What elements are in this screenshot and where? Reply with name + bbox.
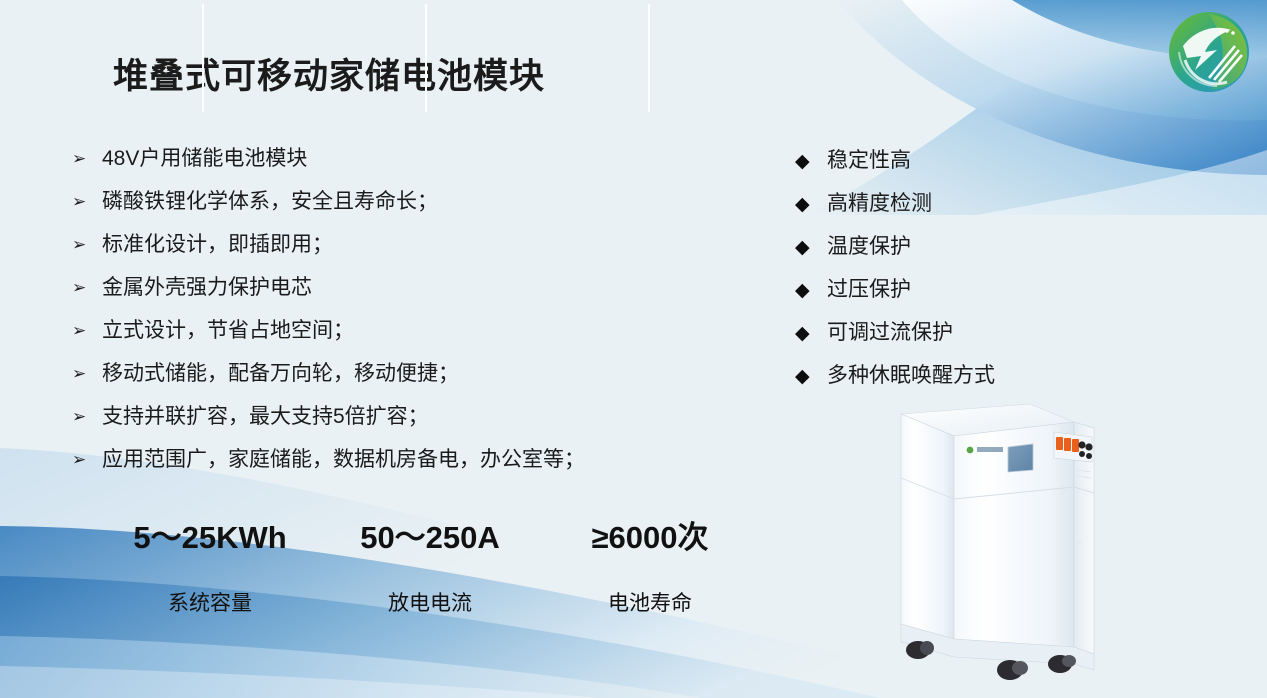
list-item: ➢ 磷酸铁锂化学体系，安全且寿命长； <box>72 191 692 234</box>
list-item-label: 金属外壳强力保护电芯 <box>102 277 312 298</box>
diamond-bullet-icon: ◆ <box>795 238 827 257</box>
list-item-label: 多种休眠唤醒方式 <box>827 365 995 386</box>
spec-cell-capacity: 5～25KWh 系统容量 <box>100 505 320 620</box>
product-image-battery-cabinet <box>878 392 1118 692</box>
power-terminals <box>1054 432 1093 462</box>
slide-canvas: 堆叠式可移动家储电池模块 ➢ 48V户用储能电池模块 ➢ 磷酸铁锂化学体系，安全… <box>0 0 1267 698</box>
spec-caption: 系统容量 <box>168 593 252 614</box>
list-item: ➢ 金属外壳强力保护电芯 <box>72 277 692 320</box>
spec-caption: 电池寿命 <box>608 593 692 614</box>
list-item-label: 立式设计，节省占地空间； <box>102 320 354 341</box>
diamond-bullet-icon: ◆ <box>795 324 827 343</box>
list-item: ➢ 支持并联扩容，最大支持5倍扩容； <box>72 406 692 449</box>
list-item: ◆ 稳定性高 <box>795 150 1085 193</box>
list-item: ➢ 应用范围广，家庭储能，数据机房备电，办公室等； <box>72 449 692 492</box>
spec-cell-current: 50～250A 放电电流 <box>320 505 540 620</box>
list-item: ➢ 立式设计，节省占地空间； <box>72 320 692 363</box>
list-item: ➢ 移动式储能，配备万向轮，移动便捷； <box>72 363 692 406</box>
list-item: ◆ 温度保护 <box>795 236 1085 279</box>
arrow-bullet-icon: ➢ <box>72 408 102 425</box>
list-item-label: 温度保护 <box>827 236 911 257</box>
features-left-list: ➢ 48V户用储能电池模块 ➢ 磷酸铁锂化学体系，安全且寿命长； ➢ 标准化设计… <box>72 148 692 492</box>
diamond-bullet-icon: ◆ <box>795 152 827 171</box>
spec-divider <box>648 4 650 112</box>
list-item: ➢ 标准化设计，即插即用； <box>72 234 692 277</box>
list-item-label: 过压保护 <box>827 279 911 300</box>
spec-divider <box>202 4 204 112</box>
arrow-bullet-icon: ➢ <box>72 279 102 296</box>
list-item-label: 磷酸铁锂化学体系，安全且寿命长； <box>102 191 438 212</box>
arrow-bullet-icon: ➢ <box>72 451 102 468</box>
diamond-bullet-icon: ◆ <box>795 195 827 214</box>
arrow-bullet-icon: ➢ <box>72 236 102 253</box>
diamond-bullet-icon: ◆ <box>795 367 827 386</box>
spec-value: 5～25KWh <box>133 522 286 553</box>
arrow-bullet-icon: ➢ <box>72 322 102 339</box>
list-item-label: 标准化设计，即插即用； <box>102 234 333 255</box>
spec-caption: 放电电流 <box>388 593 472 614</box>
spec-divider <box>425 4 427 112</box>
arrow-bullet-icon: ➢ <box>72 150 102 167</box>
spec-value: ≥6000次 <box>592 522 709 553</box>
arrow-bullet-icon: ➢ <box>72 193 102 210</box>
diamond-bullet-icon: ◆ <box>795 281 827 300</box>
list-item: ◆ 过压保护 <box>795 279 1085 322</box>
list-item: ◆ 高精度检测 <box>795 193 1085 236</box>
spec-cell-cycle-life: ≥6000次 电池寿命 <box>540 505 760 620</box>
list-item-label: 移动式储能，配备万向轮，移动便捷； <box>102 363 459 384</box>
spec-value: 50～250A <box>360 522 500 553</box>
spec-highlights: 5～25KWh 系统容量 50～250A 放电电流 ≥6000次 电池寿命 <box>100 505 760 620</box>
list-item-label: 支持并联扩容，最大支持5倍扩容； <box>102 406 429 427</box>
list-item-label: 应用范围广，家庭储能，数据机房备电，办公室等； <box>102 449 585 470</box>
list-item: ◆ 可调过流保护 <box>795 322 1085 365</box>
company-logo <box>1165 8 1253 96</box>
page-title: 堆叠式可移动家储电池模块 <box>113 56 545 98</box>
list-item-label: 稳定性高 <box>827 150 911 171</box>
list-item-label: 48V户用储能电池模块 <box>102 148 307 169</box>
features-right-list: ◆ 稳定性高 ◆ 高精度检测 ◆ 温度保护 ◆ 过压保护 ◆ 可调过流保护 ◆ … <box>795 150 1085 408</box>
list-item-label: 高精度检测 <box>827 193 932 214</box>
lcd-display <box>1008 444 1033 472</box>
list-item: ➢ 48V户用储能电池模块 <box>72 148 692 191</box>
list-item-label: 可调过流保护 <box>827 322 953 343</box>
arrow-bullet-icon: ➢ <box>72 365 102 382</box>
